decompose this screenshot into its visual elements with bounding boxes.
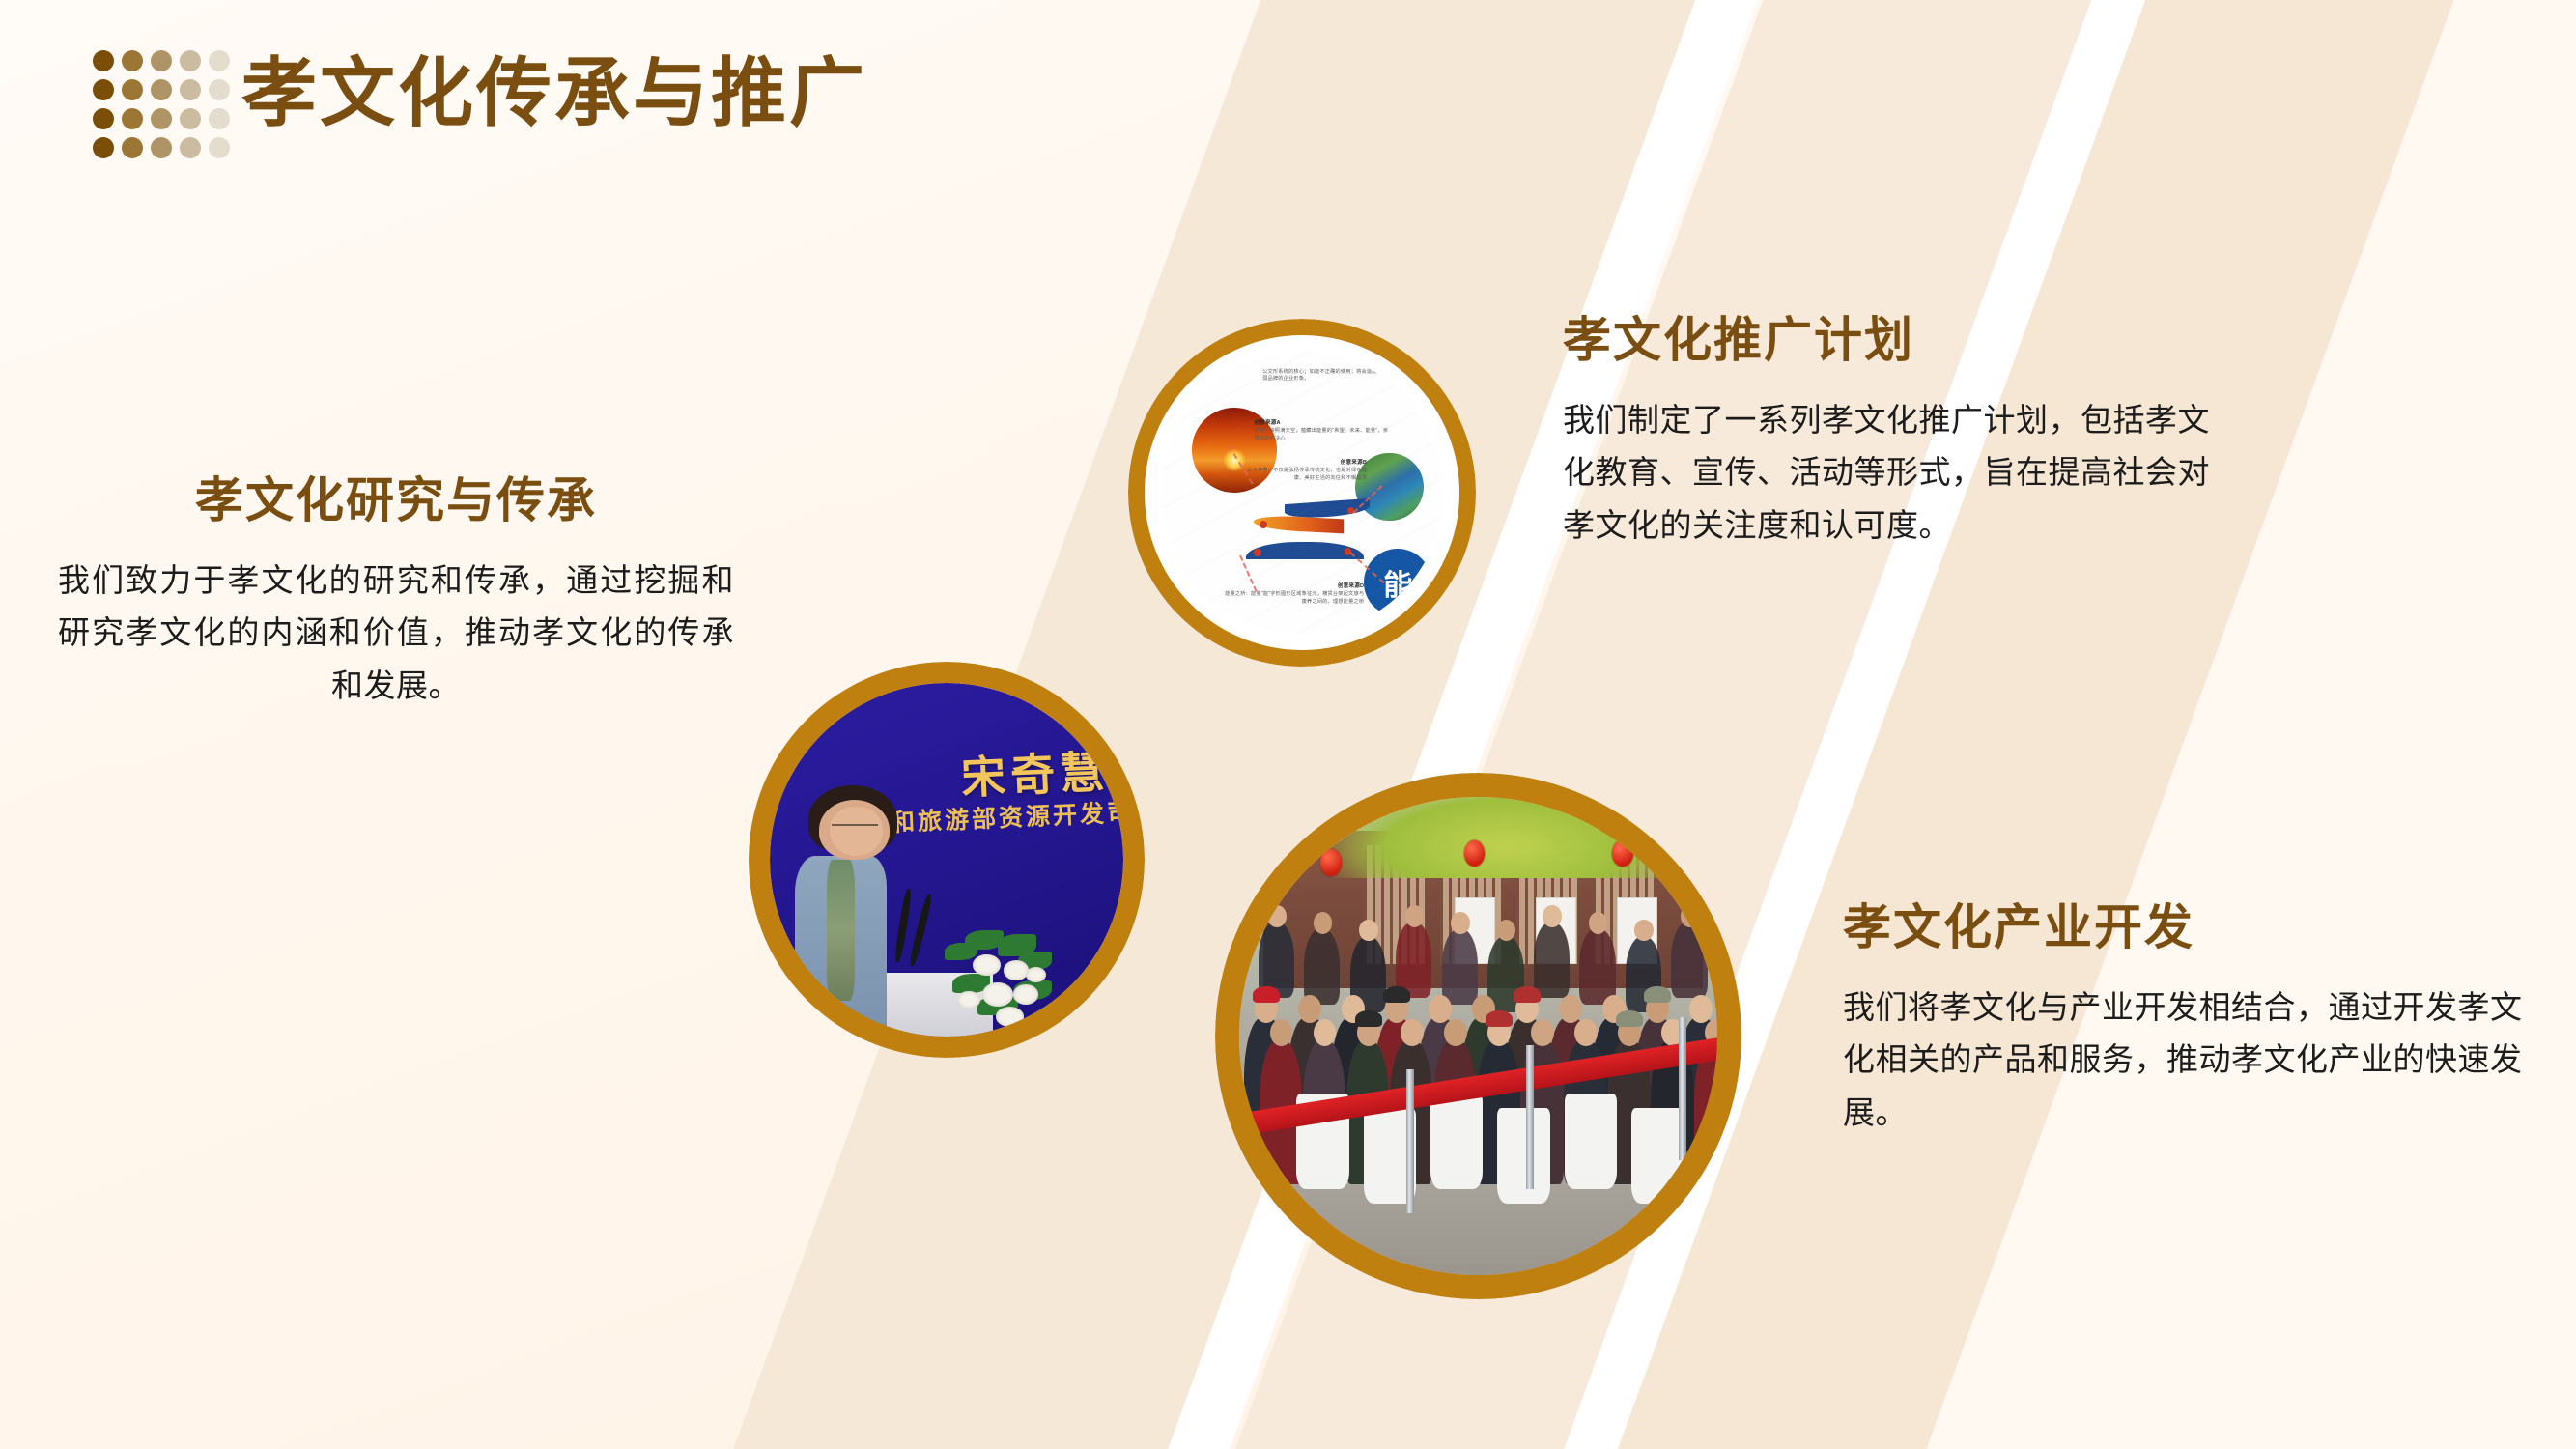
white-chair — [1497, 1108, 1549, 1204]
crowd-image — [1239, 797, 1717, 1275]
slide-header: 孝文化传承与推广 — [0, 0, 2576, 184]
dot-grid-dot — [93, 137, 114, 158]
red-lantern-icon-3 — [1612, 840, 1633, 867]
crowd-person-hat — [1355, 1010, 1382, 1027]
rope-post-1 — [1406, 1069, 1414, 1213]
white-chair — [1430, 1094, 1483, 1189]
crowd-person-hat — [1514, 986, 1541, 1003]
bouquet-rose — [996, 1007, 1024, 1026]
crowd-person-head — [1405, 905, 1424, 927]
industry-body: 我们将孝文化与产业开发相结合，通过开发孝文化相关的产品和服务，推动孝文化产业的快… — [1843, 981, 2538, 1139]
rope-post-3 — [1679, 1017, 1686, 1161]
industry-heading: 孝文化产业开发 — [1843, 898, 2538, 956]
tree-foliage — [1316, 797, 1698, 878]
crowd-person — [1534, 922, 1570, 998]
dot-grid-dot — [151, 108, 172, 129]
crowd-person-head — [1401, 1019, 1424, 1047]
crowd-person-hat — [1616, 1010, 1643, 1027]
content-block-research: 孝文化研究与传承 我们致力于孝文化的研究和传承，通过挖掘和研究孝文化的内涵和价值… — [58, 471, 734, 712]
crowd-person-head — [1444, 1019, 1467, 1047]
bouquet-rose — [1013, 984, 1038, 1004]
white-chair — [1565, 1094, 1617, 1189]
crowd-person-head — [1451, 912, 1469, 934]
red-lantern-icon-1 — [1320, 849, 1342, 876]
dot-grid-dot — [151, 50, 172, 71]
crowd-person — [1442, 928, 1478, 1005]
crowd-person-head — [1298, 995, 1321, 1023]
crowd-person-head — [1359, 920, 1377, 942]
crowd-person-head — [1681, 905, 1699, 927]
crowd-person-hat — [1644, 986, 1671, 1003]
crowd-person-head — [1267, 905, 1286, 927]
rope-post-2 — [1526, 1045, 1534, 1189]
crowd-person-head — [1559, 995, 1582, 1023]
speaker-glasses-icon — [832, 824, 878, 835]
dot-grid-dot — [151, 137, 172, 158]
image-bubble-speaker[interactable]: 宋奇慧 文化和旅游部资源开发司 — [749, 662, 1145, 1058]
flower-bouquet — [940, 923, 1067, 1033]
crowd-person-head — [1429, 995, 1452, 1023]
image-bubble-crowd[interactable] — [1215, 773, 1741, 1299]
crowd-person — [1579, 928, 1615, 1005]
content-block-industry: 孝文化产业开发 我们将孝文化与产业开发相结合，通过开发孝文化相关的产品和服务，推… — [1843, 898, 2538, 1139]
dot-grid-decoration — [93, 50, 232, 160]
crowd-person — [1304, 928, 1340, 1005]
promotion-body: 我们制定了一系列孝文化推广计划，包括孝文化教育、宣传、活动等形式，旨在提高社会对… — [1563, 394, 2239, 552]
research-heading: 孝文化研究与传承 — [58, 471, 734, 529]
dot-grid-dot — [93, 79, 114, 100]
image-bubble-infographic[interactable]: 公文形系统的核心；如能不正确的使用；将会造成品牌形象混乱，严重削弱品牌的企业形象… — [1128, 319, 1476, 667]
dot-grid-dot — [151, 79, 172, 100]
dot-grid-dot — [180, 137, 201, 158]
content-block-promotion: 孝文化推广计划 我们制定了一系列孝文化推广计划，包括孝文化教育、宣传、活动等形式… — [1563, 311, 2239, 552]
research-body: 我们致力于孝文化的研究和传承，通过挖掘和研究孝文化的内涵和价值，推动孝文化的传承… — [58, 554, 734, 712]
dot-grid-dot — [209, 137, 230, 158]
dot-grid-dot — [122, 108, 143, 129]
slide-root: 孝文化传承与推广 公文形系统的核心；如能不正确的使用；将会造成品牌形象混乱，严重… — [0, 0, 2576, 1449]
dot-grid-dot — [209, 50, 230, 71]
dot-grid-dot — [122, 79, 143, 100]
bouquet-rose — [1004, 960, 1029, 980]
crowd-person-hat — [1383, 986, 1410, 1003]
dot-grid-dot — [209, 79, 230, 100]
dot-grid-dot — [180, 79, 201, 100]
dot-grid-dot — [93, 108, 114, 129]
crowd-person-head — [1314, 912, 1332, 934]
dot-grid-dot — [93, 50, 114, 71]
crowd-person-head — [1531, 1019, 1554, 1047]
crowd-person-head — [1574, 1019, 1598, 1047]
page-title: 孝文化传承与推广 — [241, 50, 867, 137]
crowd-person-hat — [1253, 986, 1280, 1003]
infographic-watermark — [1161, 352, 1443, 634]
crowd-person-head — [1689, 995, 1713, 1023]
crowd-person — [1671, 922, 1707, 998]
speaker-image: 宋奇慧 文化和旅游部资源开发司 — [770, 683, 1123, 1037]
crowd-person-head — [1589, 912, 1607, 934]
dot-grid-dot — [209, 108, 230, 129]
speaker-scarf — [827, 860, 855, 1001]
bouquet-rose — [982, 982, 1013, 1007]
crowd-person-head — [1543, 905, 1561, 927]
infographic-image: 公文形系统的核心；如能不正确的使用；将会造成品牌形象混乱，严重削弱品牌的企业形象… — [1161, 352, 1443, 634]
dot-grid-dot — [122, 50, 143, 71]
crowd-person-hat — [1486, 1010, 1513, 1027]
dot-grid-dot — [180, 108, 201, 129]
bouquet-rose — [973, 954, 1001, 977]
dot-grid-dot — [180, 50, 201, 71]
dot-grid-dot — [122, 137, 143, 158]
promotion-heading: 孝文化推广计划 — [1563, 311, 2239, 369]
crowd-person-head — [1634, 920, 1653, 942]
white-chair — [1631, 1108, 1684, 1204]
